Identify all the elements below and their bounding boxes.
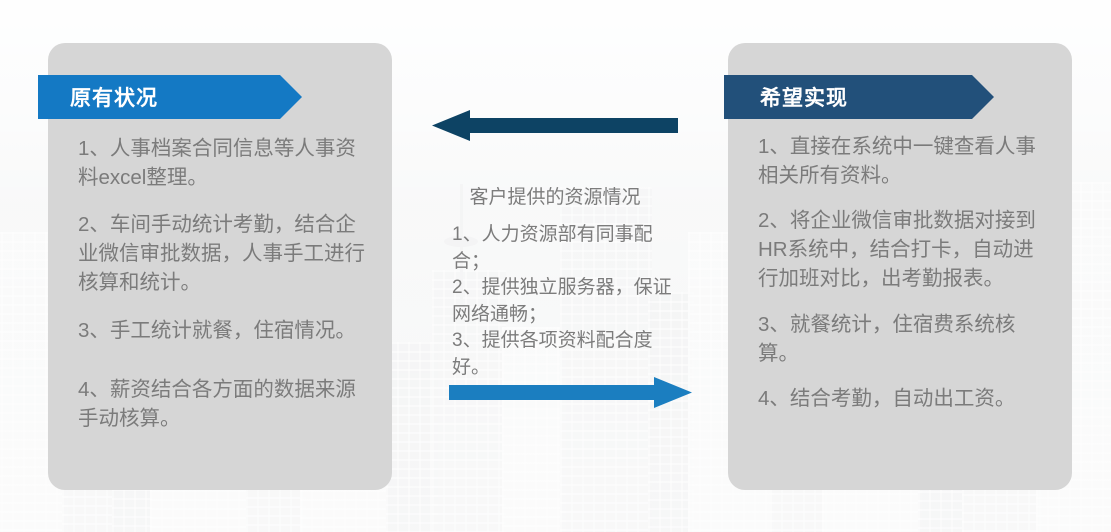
desired-state-banner: 希望实现 [724,75,994,119]
desired-state-item-list: 1、直接在系统中一键查看人事相关所有资料。 2、将企业微信审批数据对接到HR系统… [758,132,1054,429]
list-item: 4、结合考勤，自动出工资。 [758,384,1054,413]
list-item: 2、将企业微信审批数据对接到HR系统中，结合打卡，自动进行加班对比，出考勤报表。 [758,206,1054,293]
list-item: 3、手工统计就餐，住宿情况。 [78,316,376,345]
list-item: 4、薪资结合各方面的数据来源手动核算。 [78,375,376,433]
list-item: 1、直接在系统中一键查看人事相关所有资料。 [758,132,1054,190]
list-item: 3、提供各项资料配合度好。 [452,328,680,381]
current-state-banner: 原有状况 [38,75,302,119]
list-item: 1、人力资源部有同事配合； [452,222,680,275]
desired-state-banner-label: 希望实现 [760,82,848,112]
current-state-item-list: 1、人事档案合同信息等人事资料excel整理。 2、车间手动统计考勤，结合企业微… [78,134,376,451]
list-item: 3、就餐统计，住宿费系统核算。 [758,310,1054,368]
current-state-banner-label: 原有状况 [70,82,158,112]
slide-canvas: 原有状况 1、人事档案合同信息等人事资料excel整理。 2、车间手动统计考勤，… [0,0,1111,532]
resources-item-list: 1、人力资源部有同事配合； 2、提供独立服务器，保证网络通畅； 3、提供各项资料… [452,222,680,382]
resources-heading: 客户提供的资源情况 [410,186,700,211]
list-item: 2、提供独立服务器，保证网络通畅； [452,275,680,328]
list-item: 2、车间手动统计考勤，结合企业微信审批数据，人事手工进行核算和统计。 [78,210,376,297]
list-item: 1、人事档案合同信息等人事资料excel整理。 [78,134,376,192]
